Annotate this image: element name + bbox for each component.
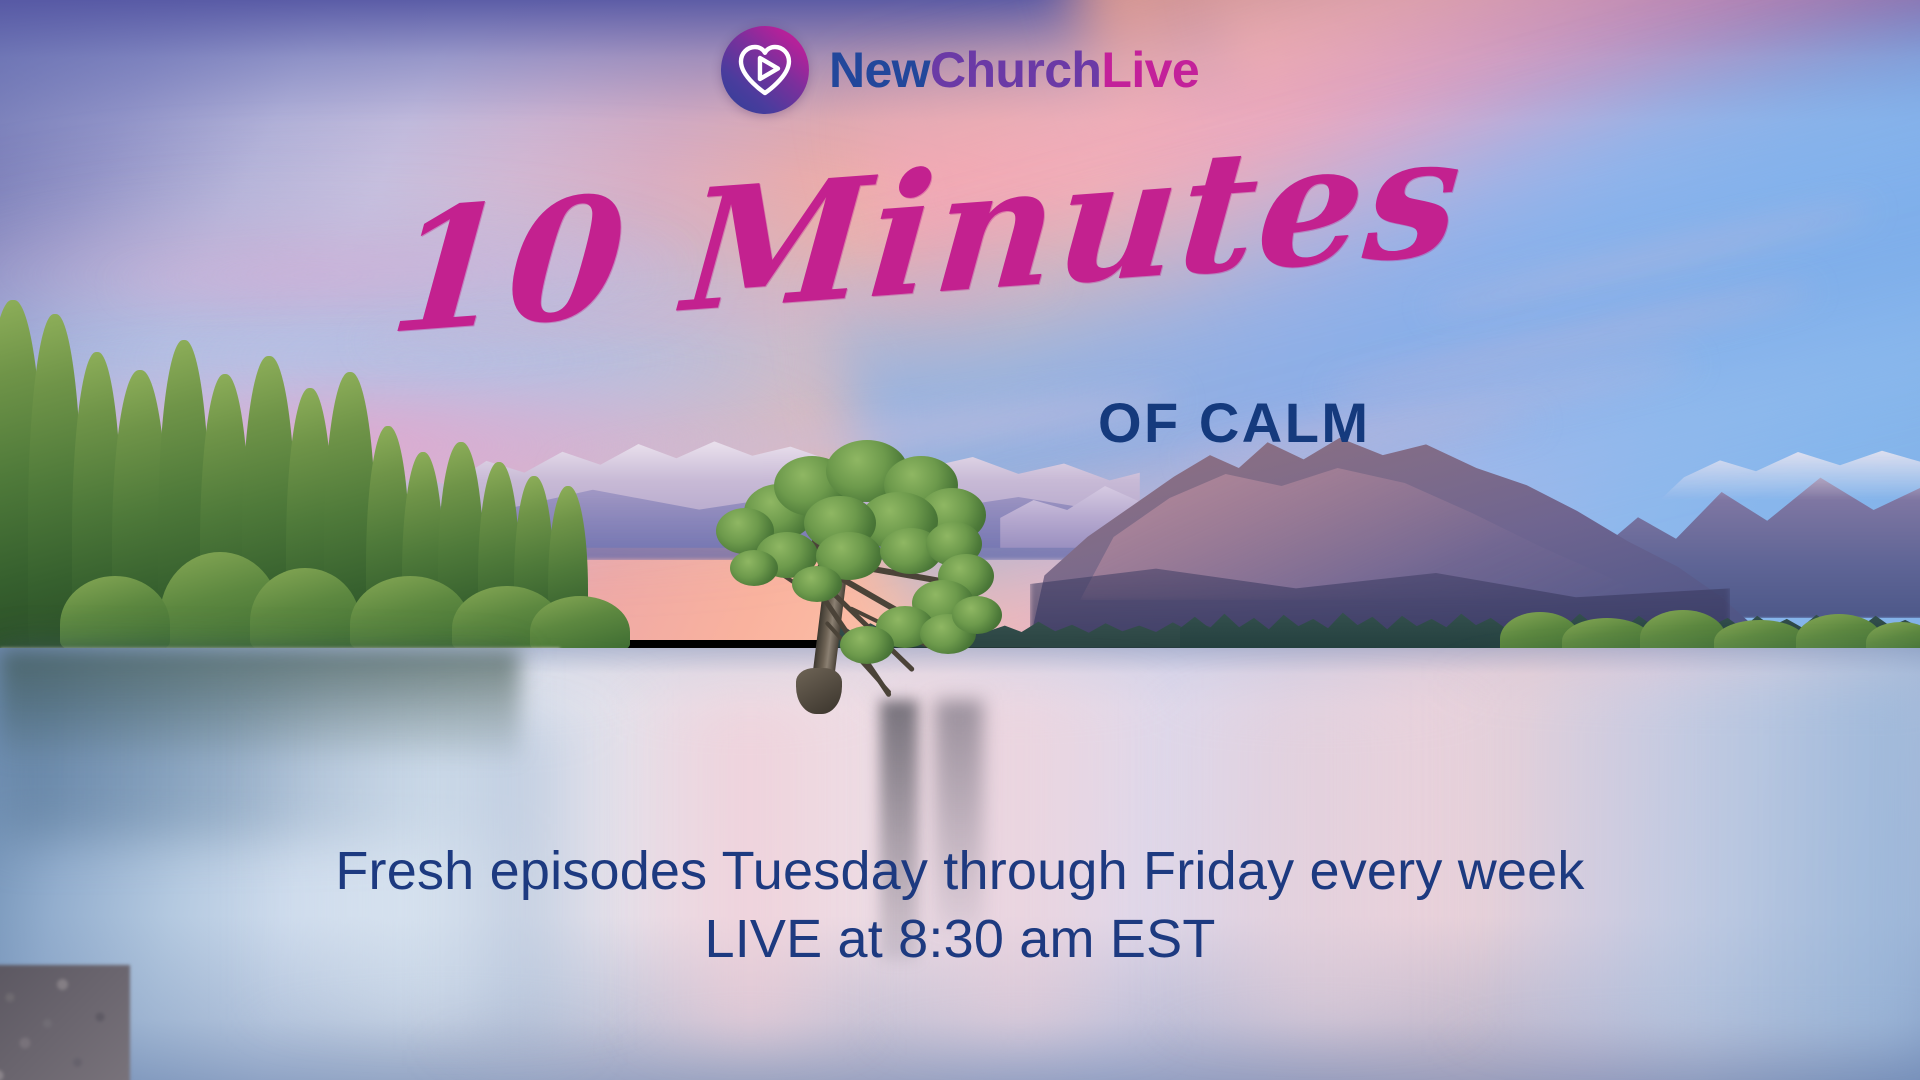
schedule-line-1: Fresh episodes Tuesday through Friday ev… [0,838,1920,906]
right-shore-trees [1500,596,1920,654]
promo-graphic: NewChurchLive 10 Minutes OF CALM Fresh e… [0,0,1920,1080]
schedule-block: Fresh episodes Tuesday through Friday ev… [0,838,1920,973]
schedule-line-2: LIVE at 8:30 am EST [0,906,1920,974]
wordmark-church: Church [930,42,1101,98]
headline-subtitle: OF CALM [1098,390,1371,455]
heart-play-icon [721,26,809,114]
poplar-grove [0,300,620,660]
lone-tree [700,400,1020,710]
shore-reflection [0,650,520,760]
tree-trunk-base [796,668,842,714]
pebble-shore [0,965,130,1080]
brand-logo[interactable]: NewChurchLive [721,26,1199,114]
wordmark-live: Live [1101,42,1199,98]
brand-wordmark: NewChurchLive [829,41,1199,99]
wordmark-new: New [829,42,930,98]
